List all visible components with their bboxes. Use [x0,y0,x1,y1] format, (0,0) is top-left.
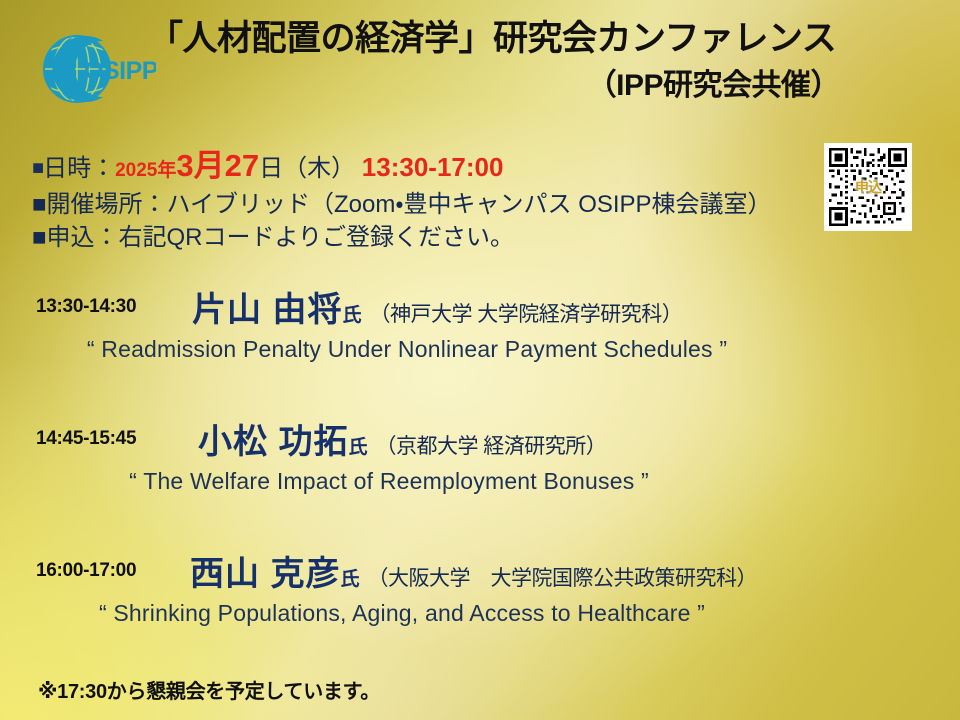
session-list: 13:30-14:30 片山 由将氏（神戸大学 大学院経済学研究科） “ Rea… [0,282,960,678]
page-title: 「人材配置の経済学」研究会カンファレンス [148,18,948,59]
info-line-venue: ■開催場所：ハイブリッド（Zoom・豊中キャンパス OSIPP棟会議室） [32,188,822,221]
session-speaker: 小松 功拓氏（京都大学 経済研究所） [198,414,606,463]
speaker-honorific: 氏 [342,305,361,326]
session-time: 14:45-15:45 [36,428,136,450]
session-speaker: 片山 由将氏（神戸大学 大学院経済学研究科） [192,282,682,331]
session-header: 14:45-15:45 小松 功拓氏（京都大学 経済研究所） [0,414,960,464]
qr-code-graphic: 申込 [829,148,907,226]
session-paper-title: “ Readmission Penalty Under Nonlinear Pa… [0,336,960,363]
date-year: 2025年 [115,160,176,181]
info-line-date: ■日時：2025年3月27日（木） 13:30-17:00 [32,145,822,188]
speaker-name: 小松 功拓 [198,423,348,461]
session-header: 16:00-17:00 西山 克彦氏（大阪大学 大学院国際公共政策研究科） [0,546,960,596]
event-info: ■日時：2025年3月27日（木） 13:30-17:00 ■開催場所：ハイブリ… [32,145,822,254]
date-time-range: 13:30-17:00 [362,152,504,182]
info-line-apply: ■申込：右記QRコードよりご登録ください。 [32,221,822,254]
qr-center-label: 申込 [829,177,907,197]
speaker-name: 片山 由将 [192,291,342,329]
session-time: 16:00-17:00 [36,560,136,582]
poster-header: OSIPP 「人材配置の経済学」研究会カンファレンス （IPP研究会共催） [0,18,960,130]
bullet-square-icon: ■ [32,157,43,179]
date-day-unit: 日 [259,155,283,182]
session-paper-title: “ Shrinking Populations, Aging, and Acce… [0,600,960,627]
date-day: 27 [225,148,259,183]
page-subtitle: （IPP研究会共催） [148,60,948,104]
osipp-logo-text: OSIPP [84,57,156,85]
speaker-affiliation: （大阪大学 大学院国際公共政策研究科） [367,567,757,590]
session-item: 16:00-17:00 西山 克彦氏（大阪大学 大学院国際公共政策研究科） “ … [0,546,960,678]
session-item: 13:30-14:30 片山 由将氏（神戸大学 大学院経済学研究科） “ Rea… [0,282,960,414]
speaker-name: 西山 克彦 [190,555,340,593]
date-weekday: （木） [283,155,355,182]
session-time: 13:30-14:30 [36,296,136,318]
title-block: 「人材配置の経済学」研究会カンファレンス （IPP研究会共催） [148,18,948,104]
speaker-affiliation: （神戸大学 大学院経済学研究科） [369,303,682,326]
footer-note: ※17:30から懇親会を予定しています。 [38,675,380,704]
session-speaker: 西山 克彦氏（大阪大学 大学院国際公共政策研究科） [190,546,757,595]
poster-canvas: OSIPP 「人材配置の経済学」研究会カンファレンス （IPP研究会共催） ■日… [0,0,960,720]
speaker-affiliation: （京都大学 経済研究所） [375,435,606,458]
session-header: 13:30-14:30 片山 由将氏（神戸大学 大学院経済学研究科） [0,282,960,332]
qr-code[interactable]: 申込 [824,143,912,231]
speaker-honorific: 氏 [340,569,359,590]
session-item: 14:45-15:45 小松 功拓氏（京都大学 経済研究所） “ The Wel… [0,414,960,546]
speaker-honorific: 氏 [348,437,367,458]
session-paper-title: “ The Welfare Impact of Reemployment Bon… [0,468,960,495]
date-month: 3月 [176,148,224,183]
date-label: 日時： [43,155,115,182]
osipp-globe-logo: OSIPP [40,32,156,106]
